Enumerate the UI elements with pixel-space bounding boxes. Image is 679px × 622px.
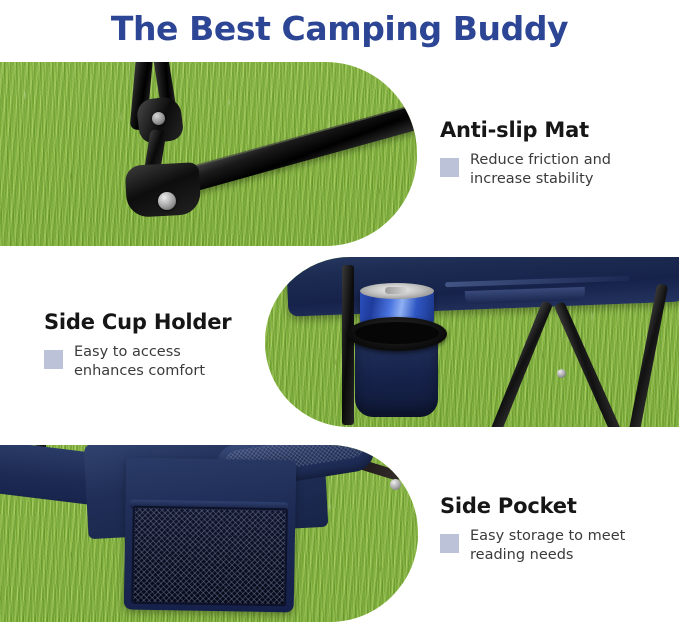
feature-heading-anti-slip-mat: Anti-slip Mat bbox=[440, 118, 611, 142]
feature-body-side-pocket: Easy storage to meet reading needs bbox=[440, 527, 625, 565]
feature-heading-side-cup-holder: Side Cup Holder bbox=[44, 310, 231, 334]
bullet-square-icon bbox=[44, 350, 63, 369]
frame-bolt-icon bbox=[390, 479, 401, 490]
feature-photo-side-cup-holder bbox=[265, 257, 679, 427]
foot-bolt-icon bbox=[158, 192, 176, 210]
bullet-square-icon bbox=[440, 158, 459, 177]
bullet-square-icon bbox=[440, 534, 459, 553]
cup-holder-post bbox=[342, 265, 354, 425]
hinge-bolt-icon bbox=[152, 112, 165, 125]
feature-text-side-cup-holder: Side Cup Holder Easy to access enhances … bbox=[44, 310, 231, 381]
feature-description-anti-slip-mat: Reduce friction and increase stability bbox=[470, 151, 611, 189]
feature-text-anti-slip-mat: Anti-slip Mat Reduce friction and increa… bbox=[440, 118, 611, 189]
feature-heading-side-pocket: Side Pocket bbox=[440, 494, 625, 518]
frame-bolt-icon bbox=[557, 369, 566, 378]
title-bar: The Best Camping Buddy bbox=[0, 0, 679, 56]
feature-text-side-pocket: Side Pocket Easy storage to meet reading… bbox=[440, 494, 625, 565]
page-title: The Best Camping Buddy bbox=[111, 9, 568, 48]
cup-holder-rim-inner bbox=[355, 322, 439, 344]
grass-background bbox=[0, 62, 417, 246]
feature-body-anti-slip-mat: Reduce friction and increase stability bbox=[440, 151, 611, 189]
side-pocket-mesh bbox=[131, 506, 288, 607]
feature-photo-side-pocket bbox=[0, 445, 418, 622]
feature-body-side-cup-holder: Easy to access enhances comfort bbox=[44, 343, 231, 381]
feature-description-side-pocket: Easy storage to meet reading needs bbox=[470, 527, 625, 565]
foot-socket bbox=[125, 162, 202, 218]
feature-photo-anti-slip-mat bbox=[0, 62, 417, 246]
feature-description-side-cup-holder: Easy to access enhances comfort bbox=[74, 343, 205, 381]
soda-can-tab-icon bbox=[385, 287, 407, 294]
